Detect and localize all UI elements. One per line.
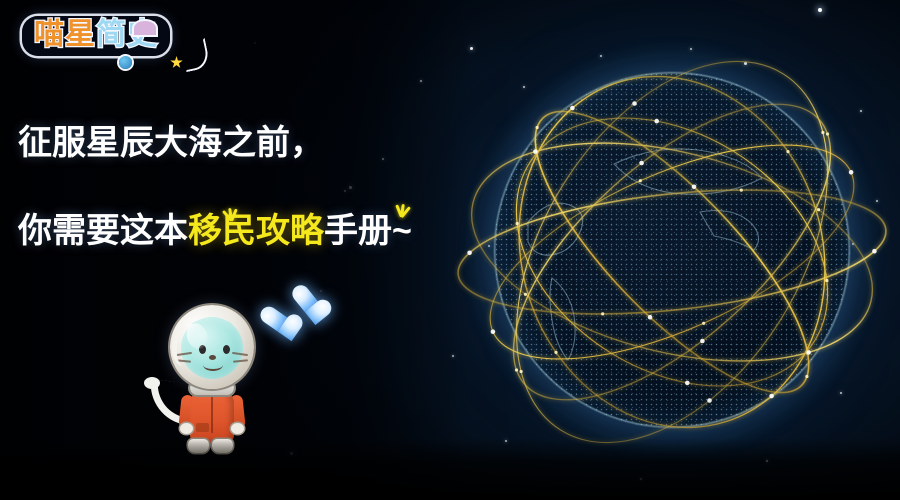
- sparkle-icon-left: [216, 196, 250, 222]
- orbit-node: [692, 185, 697, 190]
- orbit-node: [648, 315, 653, 320]
- cat-ear-icon: [134, 21, 156, 35]
- sparkle-icon-right: [386, 192, 420, 218]
- orbit-node: [632, 101, 637, 106]
- orbit-node: [700, 339, 705, 344]
- orbit-node: [805, 375, 808, 378]
- cat-mouth: [203, 359, 223, 371]
- orbit-node: [821, 131, 824, 134]
- orbit-node: [817, 208, 820, 211]
- cat-suit-pocket: [196, 423, 209, 432]
- orbit-node: [826, 132, 829, 135]
- cat-glove-right: [231, 423, 244, 434]
- headline-line-2-before: 你需要这本: [18, 212, 188, 250]
- cat-suit-zipper: [211, 397, 213, 433]
- brand-logo[interactable]: 喵星简史: [22, 16, 170, 56]
- headline-line-2: 你需要这本移民攻略手册~: [18, 214, 578, 248]
- orbit-node: [849, 170, 854, 175]
- orbit-node: [570, 106, 575, 111]
- orbit-node: [806, 350, 811, 355]
- orbit-node: [639, 179, 642, 182]
- poster-canvas: 喵星简史 征服星辰大海之前， 你需要这本移民攻略手册~: [0, 0, 900, 500]
- orbit-node: [491, 329, 496, 334]
- heart-icon-small: [292, 286, 320, 313]
- cat-tail-tip: [144, 377, 160, 389]
- cat-glove-left: [180, 423, 193, 434]
- cat-eye-right: [223, 345, 230, 354]
- orbit-node: [872, 249, 877, 254]
- yarn-ball-icon: [119, 56, 132, 69]
- orbit-lines: [432, 10, 900, 490]
- headline-block: 征服星辰大海之前， 你需要这本移民攻略手册~: [18, 126, 578, 248]
- orbit-node: [825, 279, 828, 282]
- orbit-node: [740, 189, 743, 192]
- digital-globe: [432, 10, 900, 490]
- bottom-fade: [0, 438, 900, 500]
- headline-line-1: 征服星辰大海之前，: [18, 126, 578, 160]
- orbit-node: [515, 368, 518, 371]
- headline-highlight: 移民攻略: [188, 212, 324, 250]
- brand-logo-part-orange: 喵星: [34, 18, 96, 51]
- orbit-ellipse: [452, 6, 892, 498]
- orbit-node: [601, 312, 604, 315]
- orbit-node: [554, 351, 557, 354]
- orbit-node: [639, 161, 644, 166]
- orbit-node: [786, 150, 789, 153]
- orbit-node: [702, 322, 705, 325]
- orbit-node: [524, 293, 527, 296]
- orbit-node: [685, 381, 690, 386]
- orbit-node: [769, 394, 774, 399]
- orbit-node: [654, 119, 659, 124]
- orbit-node: [707, 398, 712, 403]
- orbit-node: [520, 370, 523, 373]
